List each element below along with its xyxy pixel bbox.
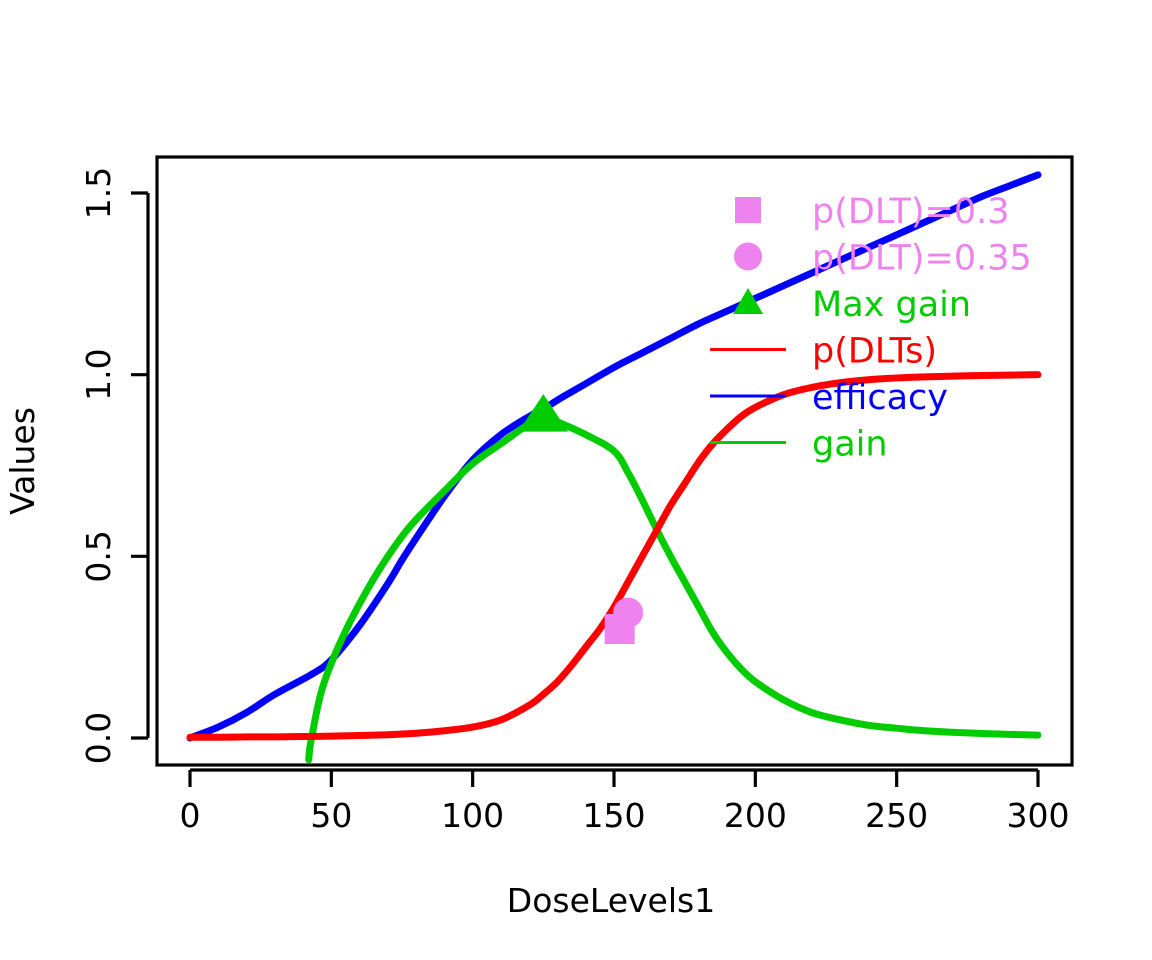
x-tick-label: 150: [583, 796, 646, 835]
legend-label: p(DLT)=0.35: [812, 239, 1032, 279]
legend-label: Max gain: [812, 285, 971, 325]
y-tick-label: 1.0: [79, 348, 118, 400]
y-axis-title: Values: [3, 407, 42, 515]
x-tick-label: 50: [310, 796, 352, 835]
x-tick-label: 200: [724, 796, 787, 835]
legend-symbol-circle: [734, 243, 762, 271]
y-tick-label: 0.0: [79, 712, 118, 764]
x-axis-title: DoseLevels1: [507, 881, 715, 920]
x-tick-label: 0: [180, 796, 201, 835]
chart-background: [0, 0, 1152, 960]
x-tick-label: 300: [1007, 796, 1070, 835]
x-tick-label: 250: [865, 796, 928, 835]
plot-root: 0501001502002503000.00.51.01.5 p(DLT)=0.…: [0, 0, 1152, 960]
legend-label: gain: [812, 425, 888, 465]
chart-canvas: 0501001502002503000.00.51.01.5 p(DLT)=0.…: [0, 0, 1152, 960]
y-tick-label: 0.5: [79, 530, 118, 582]
x-tick-label: 100: [441, 796, 504, 835]
marker-circle: [613, 598, 643, 628]
y-tick-label: 1.5: [79, 167, 118, 219]
legend-label: p(DLTs): [812, 332, 937, 372]
legend-label: efficacy: [812, 378, 948, 418]
legend-symbol-square: [735, 197, 761, 223]
legend-label: p(DLT)=0.3: [812, 192, 1010, 232]
